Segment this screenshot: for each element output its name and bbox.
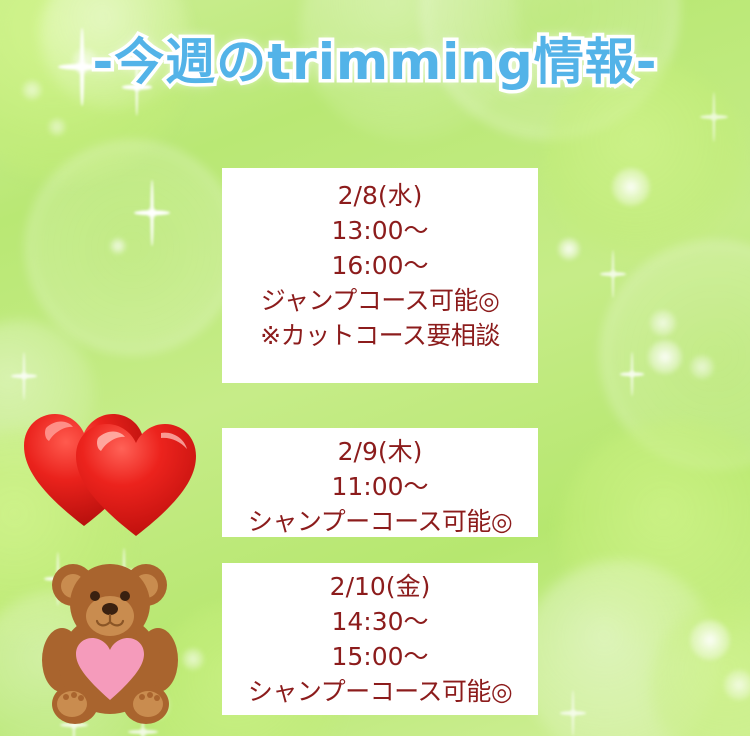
schedule-time: 13:00〜 (222, 213, 538, 248)
schedule-card-feb-10: 2/10(金) 14:30〜 15:00〜 シャンプーコース可能◎ (222, 563, 538, 715)
sparkle-icon (620, 352, 644, 396)
double-hearts-icon (22, 408, 212, 538)
schedule-course-note: ※カットコース要相談 (222, 318, 538, 353)
bokeh-circle (25, 140, 240, 355)
bokeh-dot (612, 168, 650, 206)
bokeh-dot (558, 238, 580, 260)
poster-title: -今週のtrimming情報- (93, 34, 658, 90)
schedule-course-note: シャンプーコース可能◎ (222, 504, 538, 539)
bokeh-circle (600, 240, 750, 470)
schedule-card-feb-8: 2/8(水) 13:00〜 16:00〜 ジャンプコース可能◎ ※カットコース要… (222, 168, 538, 383)
sparkle-icon (600, 250, 626, 298)
teddy-bear-body (42, 564, 178, 724)
teddy-bear-icon (30, 552, 195, 732)
bokeh-dot (724, 670, 750, 700)
schedule-date: 2/10(金) (222, 569, 538, 604)
bokeh-circle (560, 420, 750, 650)
schedule-date: 2/8(水) (222, 178, 538, 213)
bokeh-dot (690, 620, 730, 660)
bokeh-dot (48, 118, 66, 136)
schedule-course-note: シャンプーコース可能◎ (222, 674, 538, 709)
sparkle-icon (134, 180, 170, 246)
bear-eye-right (120, 591, 130, 601)
title-container: -今週のtrimming情報- (0, 34, 750, 90)
schedule-date: 2/9(木) (222, 434, 538, 469)
sparkle-icon (700, 92, 728, 142)
bokeh-dot (650, 310, 676, 336)
bear-nose (102, 603, 118, 615)
sparkle-icon (11, 352, 37, 400)
bokeh-dot (110, 238, 126, 254)
schedule-time: 16:00〜 (222, 248, 538, 283)
bokeh-dot (690, 355, 714, 379)
schedule-time: 14:30〜 (222, 604, 538, 639)
schedule-course-note: ジャンプコース可能◎ (222, 283, 538, 318)
schedule-time: 15:00〜 (222, 639, 538, 674)
bokeh-circle (650, 600, 750, 736)
bear-eye-left (90, 591, 100, 601)
bokeh-dot (648, 340, 682, 374)
bokeh-circle (520, 560, 720, 736)
schedule-card-feb-9: 2/9(木) 11:00〜 シャンプーコース可能◎ (222, 428, 538, 537)
sparkle-icon (560, 690, 586, 736)
poster-canvas: -今週のtrimming情報- 2/8(水) 13:00〜 16:00〜 ジャン… (0, 0, 750, 736)
schedule-time: 11:00〜 (222, 469, 538, 504)
